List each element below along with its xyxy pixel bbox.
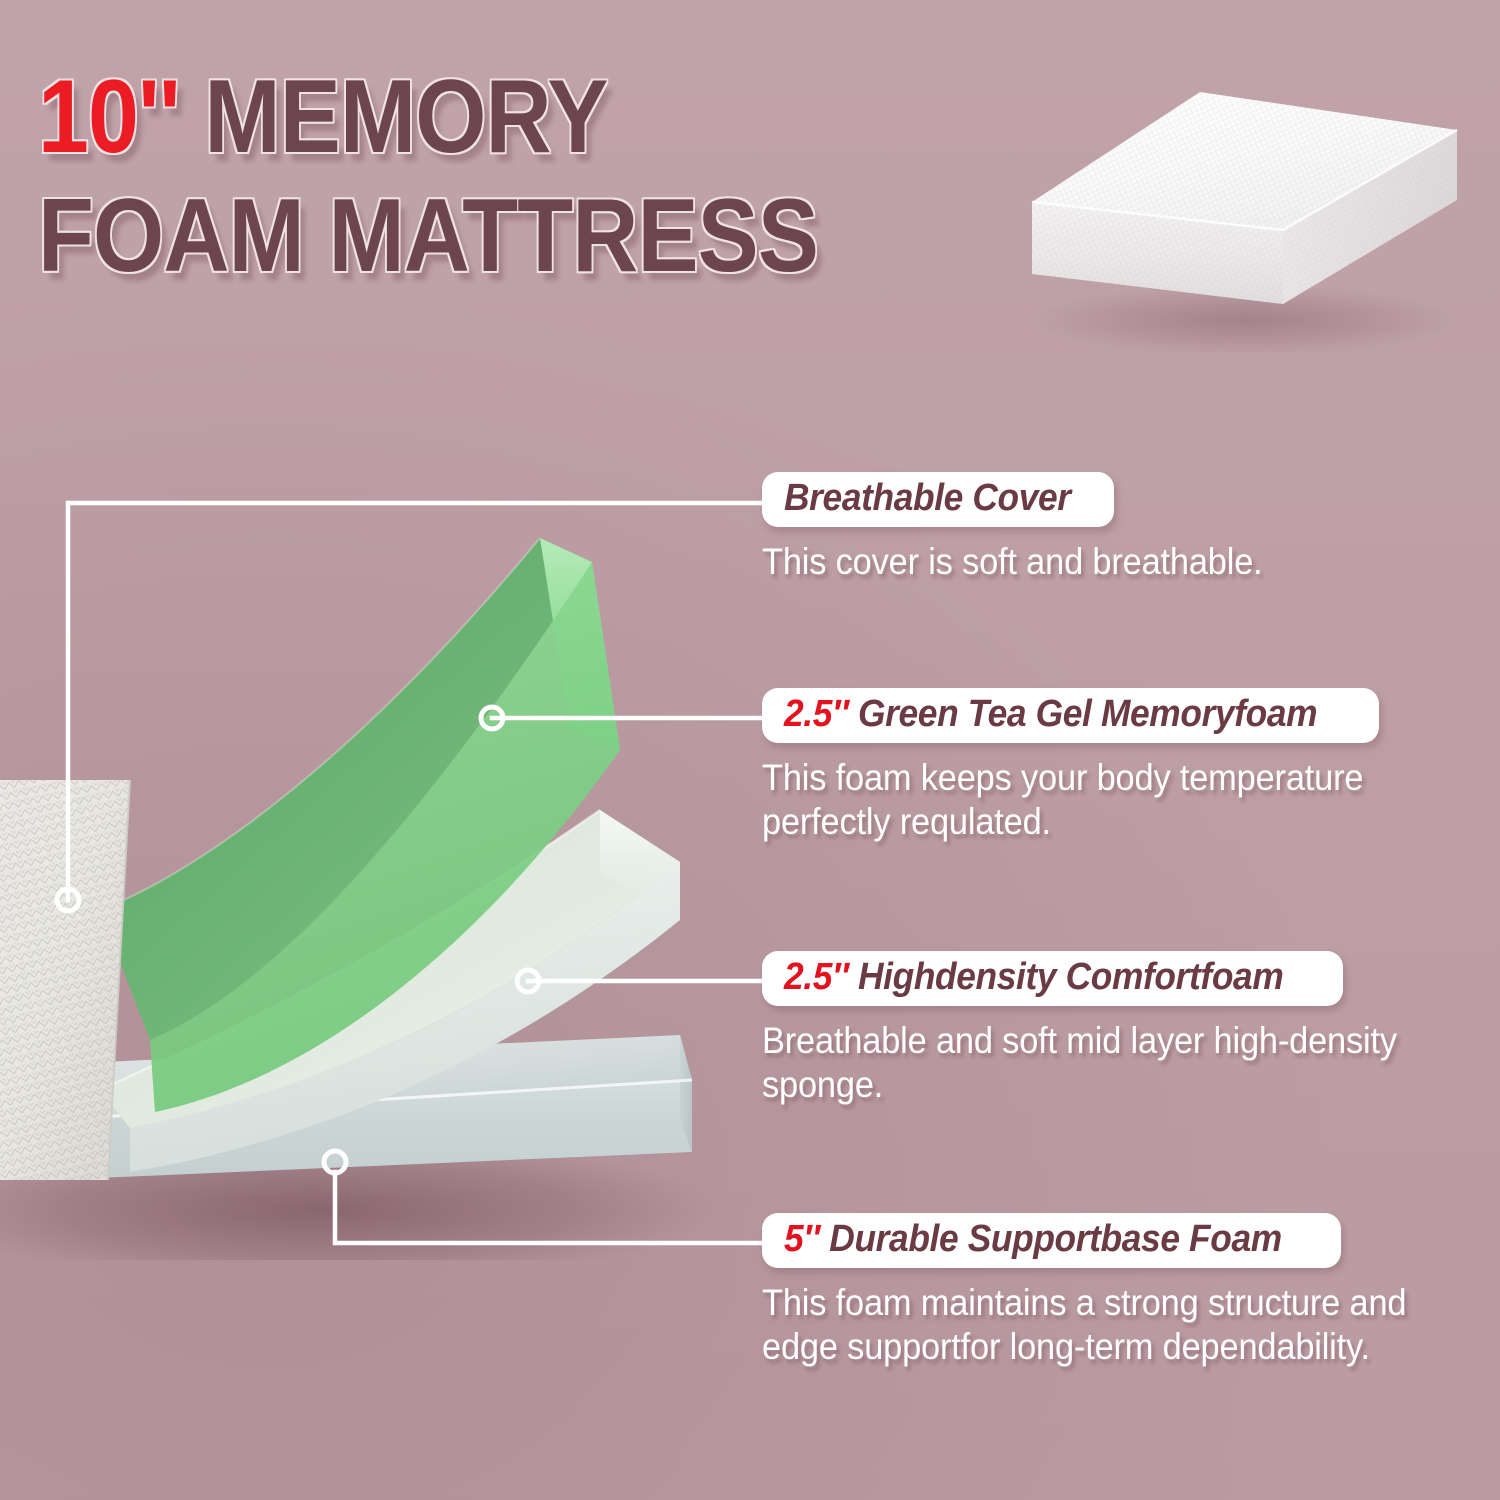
callout-title-green-tea-gel-memoryfoam: 2.5″ Green Tea Gel Memoryfoam (784, 695, 1317, 733)
callout-num-highdensity-comfortfoam: 2.5″ (784, 956, 849, 998)
infographic-page: 10'' MEMORY FOAM MATTRESS (0, 0, 1500, 1500)
callout-title-breathable-cover: Breathable Cover (784, 479, 1071, 517)
title-line-1-rest: MEMORY (180, 59, 608, 175)
callout-num-green-tea-gel-memoryfoam: 2.5″ (784, 693, 849, 735)
callout-highdensity-comfortfoam: 2.5″ Highdensity Comfortfoam Breathable … (762, 951, 1482, 1106)
mattress-layer-diagram (0, 480, 740, 1240)
title-line-2: FOAM MATTRESS (38, 185, 883, 288)
callout-title-highdensity-comfortfoam: 2.5″ Highdensity Comfortfoam (784, 958, 1283, 996)
callout-title-text-2: Highdensity Comfortfoam (849, 956, 1284, 998)
layer-cover-fabric (0, 780, 130, 1180)
callout-title-text-0: Breathable Cover (784, 477, 1071, 519)
callout-list: Breathable Cover This cover is soft and … (762, 0, 1500, 1500)
callout-pill-highdensity-comfortfoam[interactable]: 2.5″ Highdensity Comfortfoam (762, 951, 1343, 1006)
title-line-1: 10'' MEMORY (38, 66, 883, 169)
callout-desc-green-tea-gel-memoryfoam: This foam keeps your body temperature pe… (762, 756, 1469, 843)
callout-breathable-cover: Breathable Cover This cover is soft and … (762, 472, 1482, 584)
callout-desc-highdensity-comfortfoam: Breathable and soft mid layer high-densi… (762, 1019, 1469, 1106)
callout-num-durable-supportbase-foam: 5″ (784, 1218, 820, 1260)
callout-desc-breathable-cover: This cover is soft and breathable. (762, 540, 1469, 584)
callout-pill-durable-supportbase-foam[interactable]: 5″ Durable Supportbase Foam (762, 1213, 1341, 1268)
callout-title-text-3: Durable Supportbase Foam (820, 1218, 1282, 1260)
title-measure: 10'' (38, 59, 180, 175)
callout-title-text-1: Green Tea Gel Memoryfoam (849, 693, 1318, 735)
callout-desc-durable-supportbase-foam: This foam maintains a strong structure a… (762, 1281, 1469, 1368)
callout-pill-breathable-cover[interactable]: Breathable Cover (762, 472, 1114, 527)
callout-green-tea-gel-memoryfoam: 2.5″ Green Tea Gel Memoryfoam This foam … (762, 688, 1482, 843)
callout-durable-supportbase-foam: 5″ Durable Supportbase Foam This foam ma… (762, 1213, 1482, 1368)
callout-title-durable-supportbase-foam: 5″ Durable Supportbase Foam (784, 1220, 1282, 1258)
callout-pill-green-tea-gel-memoryfoam[interactable]: 2.5″ Green Tea Gel Memoryfoam (762, 688, 1379, 743)
